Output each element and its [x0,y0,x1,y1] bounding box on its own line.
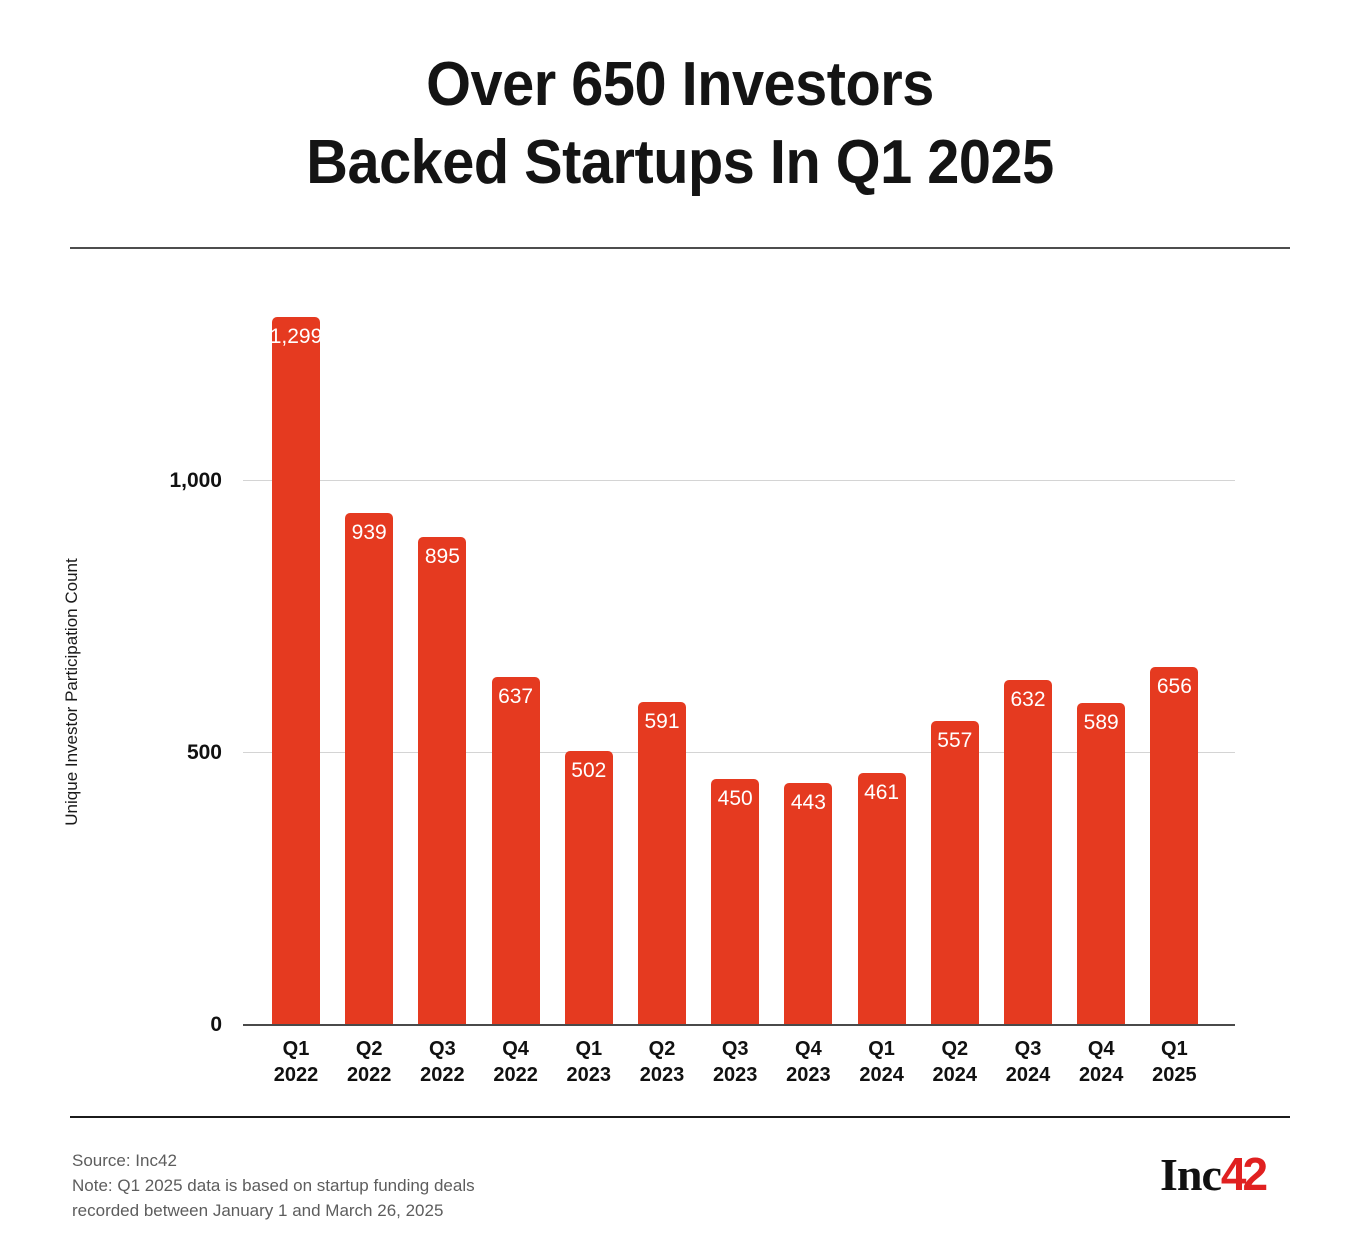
note-text-line-2: recorded between January 1 and March 26,… [72,1198,475,1223]
bar-value-label: 502 [553,760,625,782]
bar-group[interactable]: 443 [784,783,832,1024]
logo-word-inc: Inc [1160,1149,1221,1200]
bar[interactable]: 443 [784,783,832,1024]
x-tick-year: 2025 [1126,1062,1222,1088]
bar-group[interactable]: 591 [638,702,686,1024]
footer-notes: Source: Inc42 Note: Q1 2025 data is base… [72,1148,475,1223]
bar-group[interactable]: 461 [858,773,906,1024]
bar-group[interactable]: 939 [345,513,393,1024]
bar-value-label: 895 [406,546,478,568]
source-text: Source: Inc42 [72,1148,475,1173]
bar-group[interactable]: 450 [711,779,759,1024]
inc42-logo: Inc42 [1160,1150,1264,1199]
bar-value-label: 450 [699,788,771,810]
bar-group[interactable]: 895 [418,537,466,1024]
logo-number-42: 42 [1221,1148,1264,1200]
bar[interactable]: 637 [492,677,540,1024]
bar-group[interactable]: 502 [565,751,613,1024]
y-axis-label: Unique Investor Participation Count [62,392,82,992]
bar[interactable]: 557 [931,721,979,1024]
bar-value-label: 591 [626,711,698,733]
bottom-divider [70,1116,1290,1118]
bar-value-label: 637 [480,686,552,708]
bar[interactable]: 502 [565,751,613,1024]
x-axis-tick-label: Q12025 [1126,1036,1222,1088]
bar-value-label: 632 [992,689,1064,711]
bar-value-label: 1,299 [260,326,332,348]
bar-group[interactable]: 1,299 [272,317,320,1024]
bar-value-label: 443 [772,792,844,814]
bar-value-label: 461 [846,782,918,804]
bar[interactable]: 589 [1077,703,1125,1024]
bar-group[interactable]: 589 [1077,703,1125,1024]
bar-value-label: 557 [919,730,991,752]
bar-value-label: 939 [333,522,405,544]
bar-chart: Unique Investor Participation Count 0500… [0,0,1360,1260]
bar-value-label: 589 [1065,712,1137,734]
plot-area: 1,29993989563750259145044346155763258965… [243,262,1235,1024]
bar[interactable]: 450 [711,779,759,1024]
bar[interactable]: 461 [858,773,906,1024]
y-axis-tick-label: 500 [187,742,222,763]
y-axis-tick-label: 0 [210,1014,222,1035]
bar-group[interactable]: 637 [492,677,540,1024]
gridline [243,480,1235,481]
bar[interactable]: 895 [418,537,466,1024]
bar[interactable]: 591 [638,702,686,1024]
bar-value-label: 656 [1138,676,1210,698]
x-axis-line [243,1024,1235,1026]
bar-group[interactable]: 557 [931,721,979,1024]
y-axis-tick-label: 1,000 [169,470,222,491]
x-tick-quarter: Q1 [1126,1036,1222,1062]
note-text-line-1: Note: Q1 2025 data is based on startup f… [72,1173,475,1198]
bar-group[interactable]: 632 [1004,680,1052,1024]
bar[interactable]: 656 [1150,667,1198,1024]
bar[interactable]: 632 [1004,680,1052,1024]
bar[interactable]: 1,299 [272,317,320,1024]
bar-group[interactable]: 656 [1150,667,1198,1024]
bar[interactable]: 939 [345,513,393,1024]
